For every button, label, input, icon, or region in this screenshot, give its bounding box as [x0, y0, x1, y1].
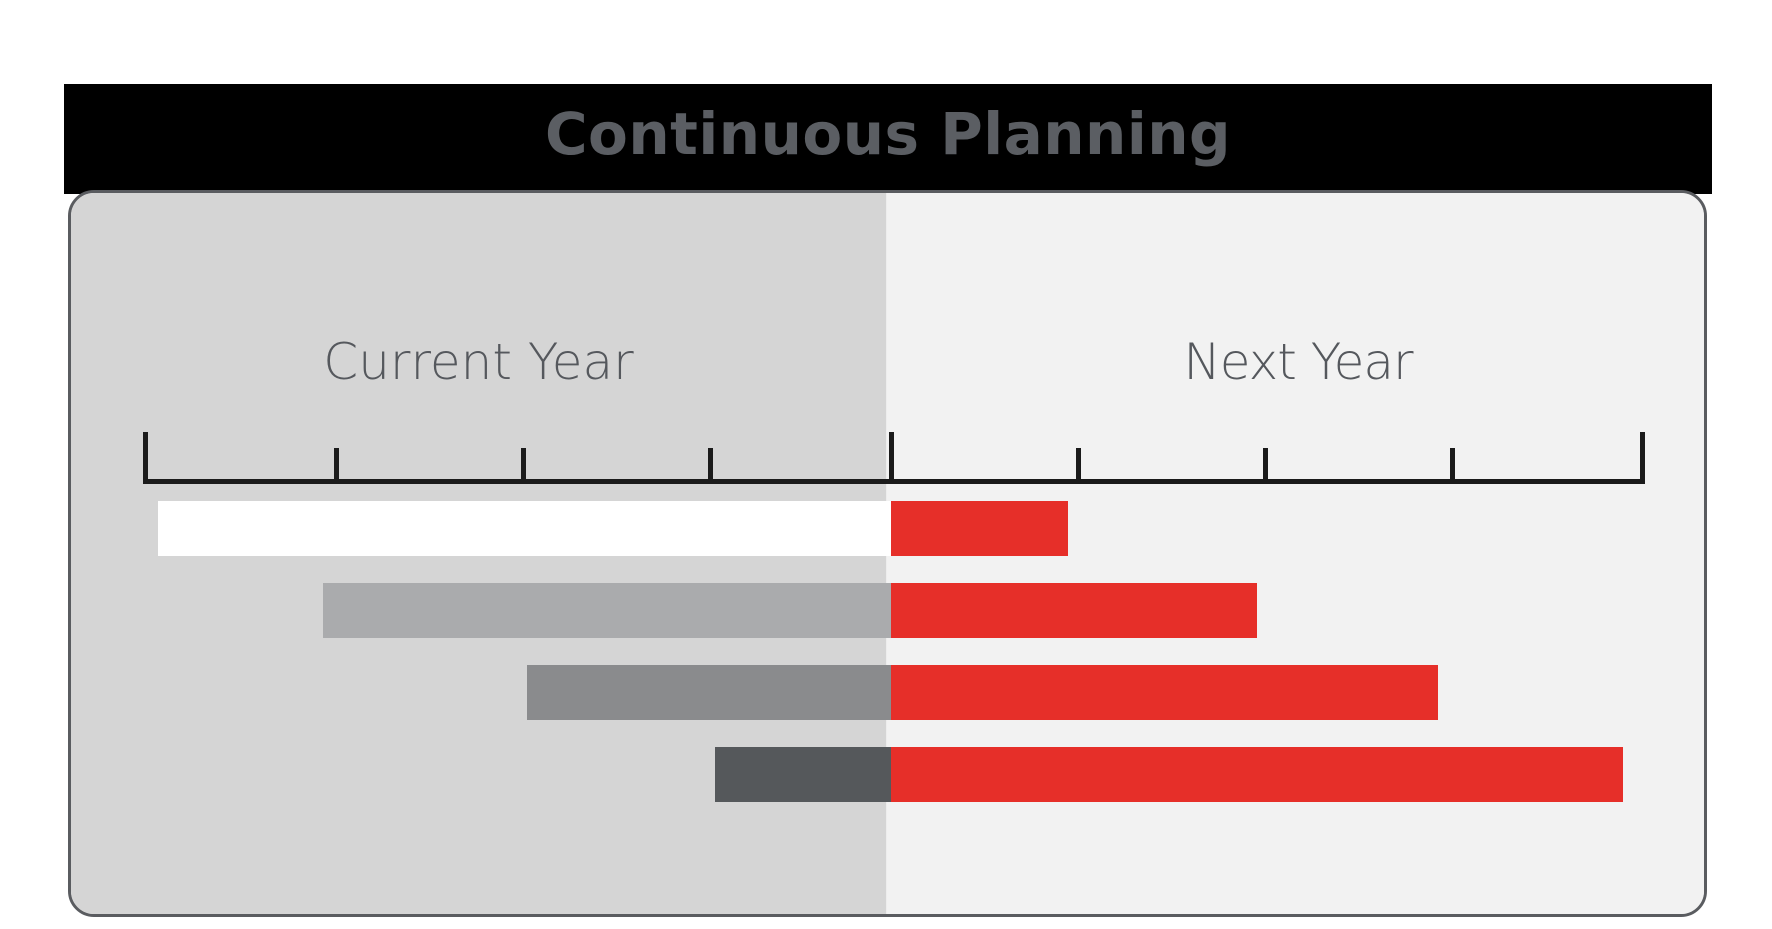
bar-segment-current-year[interactable] [715, 747, 891, 802]
gantt-bar-row[interactable] [527, 665, 1438, 720]
gantt-bar-group [71, 193, 1704, 914]
bar-segment-next-year[interactable] [891, 665, 1438, 720]
bar-segment-current-year[interactable] [527, 665, 891, 720]
page-title: Continuous Planning [64, 84, 1712, 184]
chart-canvas: Continuous Planning Current Year Next Ye… [0, 0, 1772, 929]
gantt-bar-row[interactable] [715, 747, 1623, 802]
bar-segment-next-year[interactable] [891, 747, 1623, 802]
bar-segment-current-year[interactable] [323, 583, 891, 638]
gantt-bar-row[interactable] [323, 583, 1257, 638]
chart-panel: Current Year Next Year [68, 190, 1707, 917]
gantt-bar-row[interactable] [158, 501, 1068, 556]
bar-segment-current-year[interactable] [158, 501, 891, 556]
bar-segment-next-year[interactable] [891, 583, 1257, 638]
bar-segment-next-year[interactable] [891, 501, 1068, 556]
